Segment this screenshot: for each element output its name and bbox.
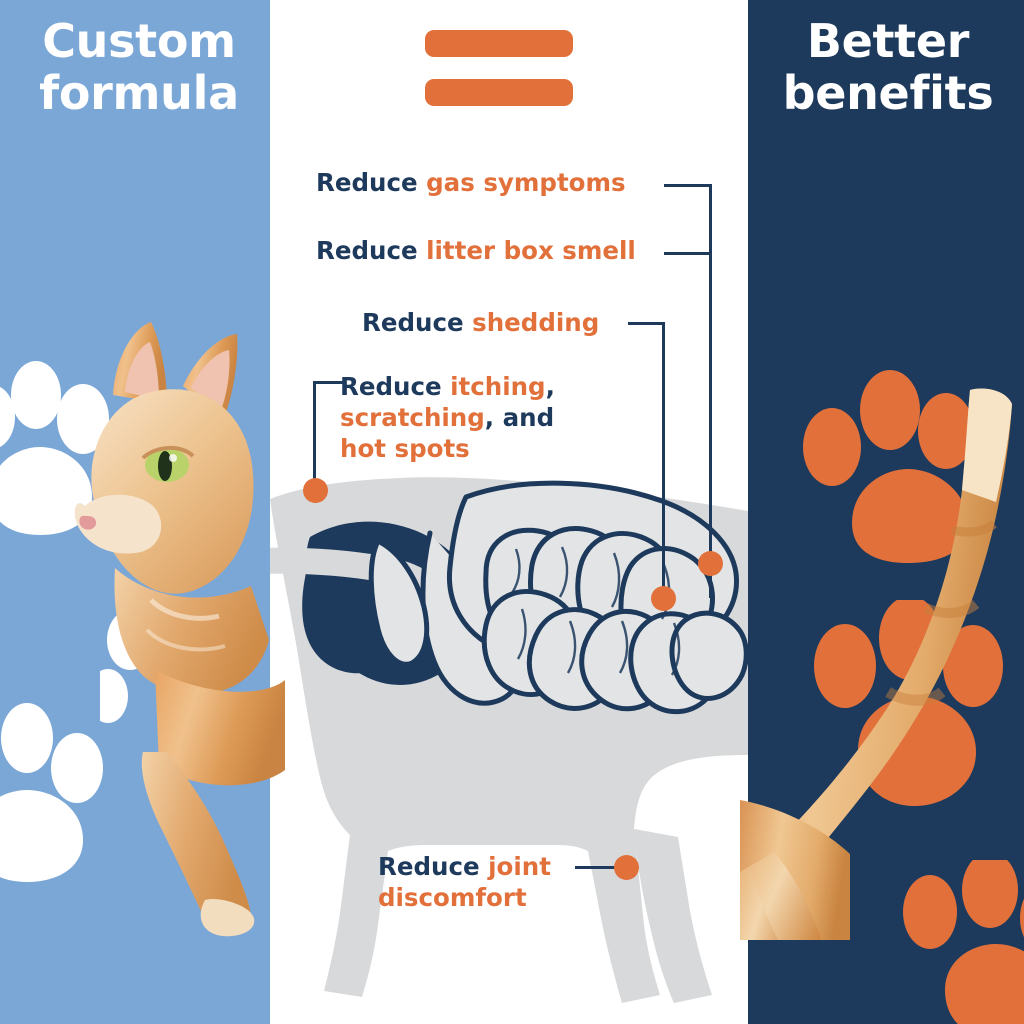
leader-gas-vertical <box>709 184 712 598</box>
headline-better-benefits: Better benefits <box>760 16 1016 119</box>
cat-anatomy-illustration <box>270 455 748 1024</box>
callout-shedding: Reduce shedding <box>362 308 599 339</box>
leader-shedding-vertical <box>662 322 665 596</box>
callout-scratching-highlight: scratching <box>340 403 485 432</box>
callout-hot-spots-highlight: hot spots <box>340 434 470 463</box>
cat-photo-right <box>740 240 1024 940</box>
headline-right-line2: benefits <box>760 68 1016 120</box>
equals-sign-logo <box>425 30 573 106</box>
infographic-canvas: Custom formula Better benefits Reduce ga… <box>0 0 1024 1024</box>
leader-dot-gas <box>698 551 723 576</box>
callout-shedding-prefix: Reduce <box>362 308 472 337</box>
headline-left-line2: formula <box>14 68 264 120</box>
callout-itching-mid: , <box>546 372 555 401</box>
equals-bar-bottom <box>425 79 573 106</box>
leader-dot-shedding <box>651 586 676 611</box>
callout-itching-prefix: Reduce <box>340 372 450 401</box>
headline-left-line1: Custom <box>14 16 264 68</box>
leader-litter-horizontal <box>664 252 712 255</box>
callout-itching-scratching-hot-spots: Reduce itching, scratching, and hot spot… <box>340 372 600 465</box>
leader-dot-itching <box>303 478 328 503</box>
callout-joint-prefix: Reduce <box>378 852 488 881</box>
callout-litter-box-smell: Reduce litter box smell <box>316 236 636 267</box>
callout-gas-prefix: Reduce <box>316 168 426 197</box>
intestine-coil-9 <box>672 613 746 698</box>
callout-gas-highlight: gas symptoms <box>426 168 625 197</box>
callout-litter-highlight: litter box smell <box>426 236 636 265</box>
leader-shedding-horizontal <box>628 322 665 325</box>
callout-gas-symptoms: Reduce gas symptoms <box>316 168 626 199</box>
callout-litter-prefix: Reduce <box>316 236 426 265</box>
callout-itching-suffix: , and <box>485 403 554 432</box>
leader-itching-vertical <box>313 381 316 485</box>
headline-right-line1: Better <box>760 16 1016 68</box>
headline-custom-formula: Custom formula <box>14 16 264 119</box>
cat-photo-left <box>55 300 285 940</box>
leader-itching-horizontal <box>313 381 343 384</box>
leader-gas-horizontal <box>664 184 712 187</box>
callout-joint-discomfort: Reduce joint discomfort <box>378 852 608 914</box>
leader-dot-joint <box>614 855 639 880</box>
callout-shedding-highlight: shedding <box>472 308 599 337</box>
callout-itching-highlight: itching <box>450 372 545 401</box>
equals-bar-top <box>425 30 573 57</box>
